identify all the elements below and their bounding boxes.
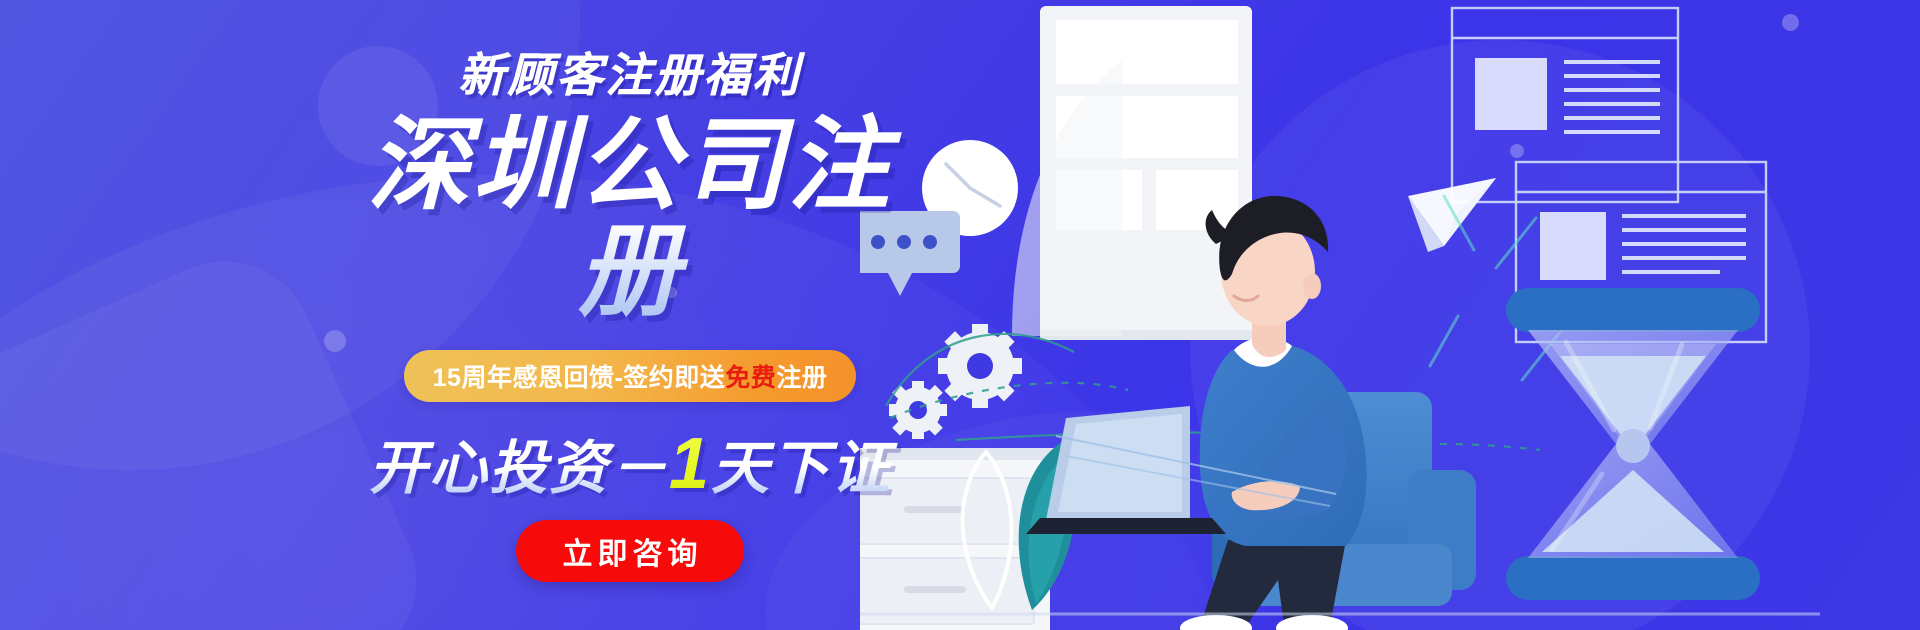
illustration [860,0,1920,630]
tagline: 开心投资－1天下证 [320,428,940,500]
tagline-suffix: 天下证 [711,436,891,501]
promo-pill-prefix: 15周年感恩回馈-签约即送 [433,364,726,392]
tagline-prefix: 开心投资－ [369,436,669,501]
consult-now-button[interactable]: 立即咨询 [516,520,744,582]
promo-pill-highlight: 免费 [725,364,776,392]
promo-banner: 新顾客注册福利 深圳公司注册 15周年感恩回馈-签约即送免费注册 开心投资－1天… [0,0,1920,630]
consult-now-label: 立即咨询 [558,529,703,573]
copy-block: 新顾客注册福利 深圳公司注册 15周年感恩回馈-签约即送免费注册 开心投资－1天… [320,52,940,582]
eyebrow-text: 新顾客注册福利 [320,52,940,98]
hourglass-icon [1506,288,1760,600]
document-card-back [1452,8,1678,202]
tagline-number: 1 [669,424,711,504]
promo-pill: 15周年感恩回馈-签约即送免费注册 [404,350,856,402]
promo-pill-text: 15周年感恩回馈-签约即送免费注册 [433,358,828,394]
paper-plane-icon [1408,178,1496,252]
page-title: 深圳公司注册 [320,112,940,324]
promo-pill-suffix: 注册 [776,364,827,392]
